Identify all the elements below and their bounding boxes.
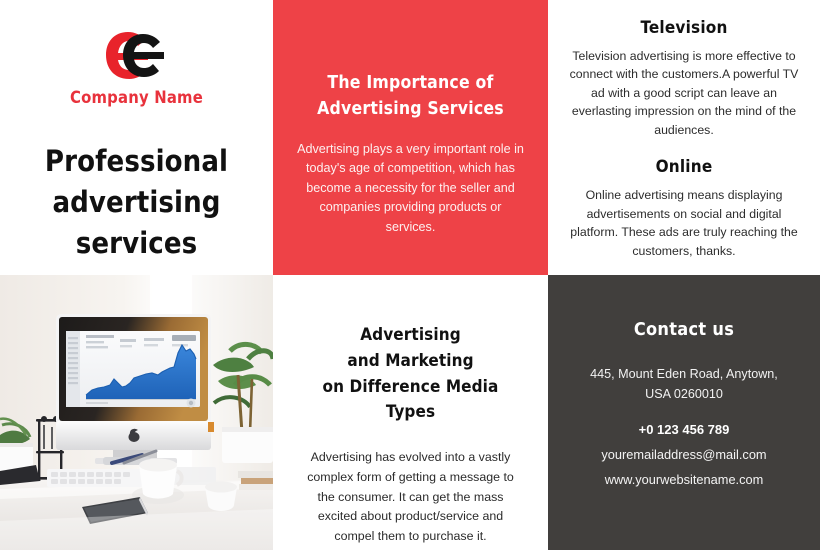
contact-address: 445, Mount Eden Road, Anytown, USA 02600… — [568, 364, 800, 405]
importance-title-line2: Advertising Services — [295, 96, 526, 122]
importance-panel: The Importance of Advertising Services A… — [273, 0, 548, 275]
media-title-line2: and Marketing — [297, 349, 524, 375]
importance-title: The Importance of Advertising Services — [295, 70, 526, 123]
services-panel: Television Television advertising is mor… — [548, 0, 820, 275]
service-body-television: Television advertising is more effective… — [566, 47, 802, 139]
media-types-panel: Advertising and Marketing on Difference … — [273, 275, 548, 550]
media-body: Advertising has evolved into a vastly co… — [297, 448, 524, 546]
service-block-television: Television Television advertising is mor… — [566, 18, 802, 139]
service-heading-television: Television — [566, 18, 802, 38]
contact-address-line1: 445, Mount Eden Road, Anytown, — [568, 364, 800, 384]
workspace-photo — [0, 275, 273, 550]
service-block-online: Online Online advertising means displayi… — [566, 157, 802, 260]
company-name: Company Name — [18, 88, 255, 107]
media-title-line1: Advertising — [297, 323, 524, 349]
letter-e-logo-icon — [98, 28, 176, 84]
contact-heading: Contact us — [568, 319, 800, 340]
cover-panel: Company Name Professional advertising se… — [0, 0, 273, 275]
contact-website[interactable]: www.yourwebsitename.com — [568, 472, 800, 487]
media-title: Advertising and Marketing on Difference … — [297, 323, 524, 426]
cover-headline-line2: advertising — [18, 182, 255, 223]
cover-headline: Professional advertising services — [18, 141, 255, 265]
brochure-layout: Company Name Professional advertising se… — [0, 0, 820, 550]
service-body-online: Online advertising means displaying adve… — [566, 186, 802, 260]
cover-headline-line3: services — [18, 223, 255, 264]
service-heading-online: Online — [566, 157, 802, 177]
contact-phone[interactable]: +0 123 456 789 — [568, 422, 800, 437]
workspace-photo-panel — [0, 275, 273, 550]
contact-address-line2: USA 0260010 — [568, 384, 800, 404]
contact-panel: Contact us 445, Mount Eden Road, Anytown… — [548, 275, 820, 550]
media-title-line3: on Difference Media Types — [297, 375, 524, 427]
contact-email[interactable]: youremailaddress@mail.com — [568, 447, 800, 462]
importance-body: Advertising plays a very important role … — [295, 140, 526, 238]
cover-headline-line1: Professional — [18, 141, 255, 182]
importance-title-line1: The Importance of — [295, 70, 526, 96]
